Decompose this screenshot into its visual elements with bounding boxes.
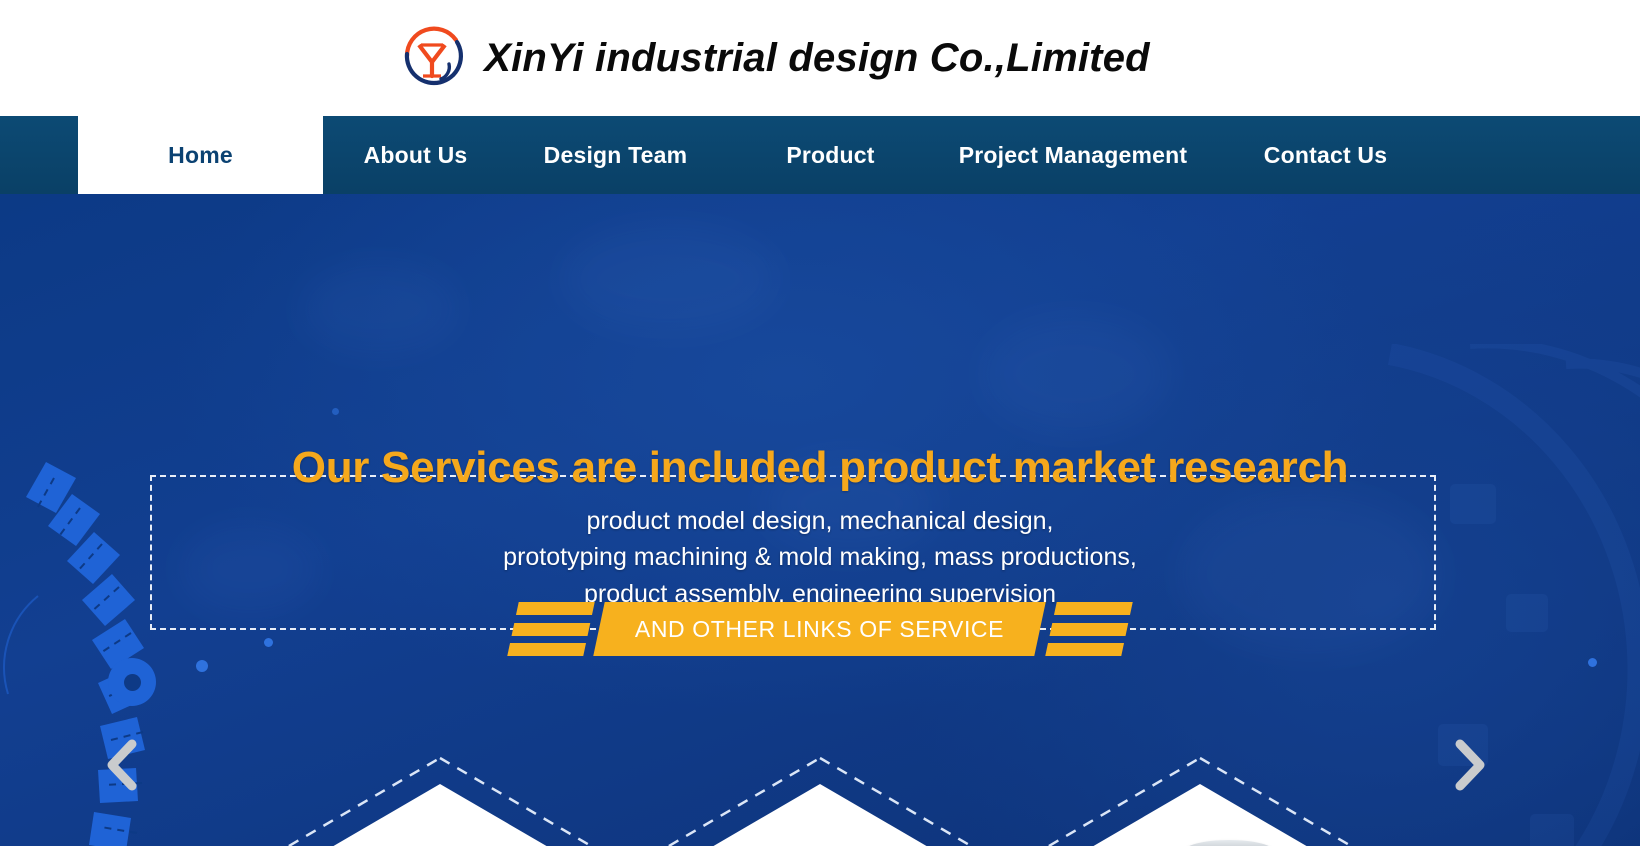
product-showcase	[0, 754, 1640, 846]
carousel-next-button[interactable]	[1438, 734, 1500, 796]
hexagon-dashed-outline	[1026, 754, 1374, 846]
nav-item-contact-us[interactable]: Contact Us	[1208, 116, 1443, 194]
hexagon-dashed-outline	[646, 754, 994, 846]
hexagon-dashed-outline	[266, 754, 614, 846]
hero-subline-1: product model design, mechanical design,	[0, 504, 1640, 539]
service-badge[interactable]: AND OTHER LINKS OF SERVICE	[594, 602, 1047, 656]
chevron-right-icon	[1447, 737, 1491, 793]
company-name: XinYi industrial design Co.,Limited	[484, 36, 1150, 81]
showcase-item-white-handheld-electronic-devices[interactable]	[646, 754, 994, 846]
nav-item-project-management[interactable]: Project Management	[938, 116, 1208, 194]
nav-item-product[interactable]: Product	[723, 116, 938, 194]
xinyi-circular-x-logo-icon	[394, 20, 470, 96]
main-navigation: Home About Us Design Team Product Projec…	[0, 116, 1640, 194]
badge-stripes-left	[508, 602, 595, 656]
badge-stripes-right	[1045, 602, 1132, 656]
showcase-photo	[1054, 784, 1346, 846]
site-header: XinYi industrial design Co.,Limited	[0, 0, 1640, 116]
service-badge-row: AND OTHER LINKS OF SERVICE	[0, 602, 1640, 656]
showcase-item-stainless-steel-shafts[interactable]	[1026, 754, 1374, 846]
showcase-item-brass-machined-fittings[interactable]	[266, 754, 614, 846]
decorative-gear-icon-1	[108, 658, 156, 706]
chevron-left-icon	[101, 737, 145, 793]
decorative-dot-4	[332, 408, 339, 415]
hero-background-texture	[0, 194, 1640, 846]
service-badge-label: AND OTHER LINKS OF SERVICE	[635, 616, 1004, 643]
hero-copy: Our Services are included product market…	[0, 444, 1640, 611]
decorative-dot-1	[196, 660, 208, 672]
nav-item-home[interactable]: Home	[78, 116, 323, 194]
decorative-dot-3	[1588, 658, 1597, 667]
nav-item-about-us[interactable]: About Us	[323, 116, 508, 194]
nav-item-design-team[interactable]: Design Team	[508, 116, 723, 194]
showcase-photo	[674, 784, 966, 846]
hero-subline-2: prototyping machining & mold making, mas…	[0, 540, 1640, 575]
hero-headline: Our Services are included product market…	[0, 444, 1640, 492]
brand[interactable]: XinYi industrial design Co.,Limited	[394, 20, 1150, 96]
showcase-photo	[294, 784, 586, 846]
hero-carousel: Our Services are included product market…	[0, 194, 1640, 846]
carousel-prev-button[interactable]	[92, 734, 154, 796]
